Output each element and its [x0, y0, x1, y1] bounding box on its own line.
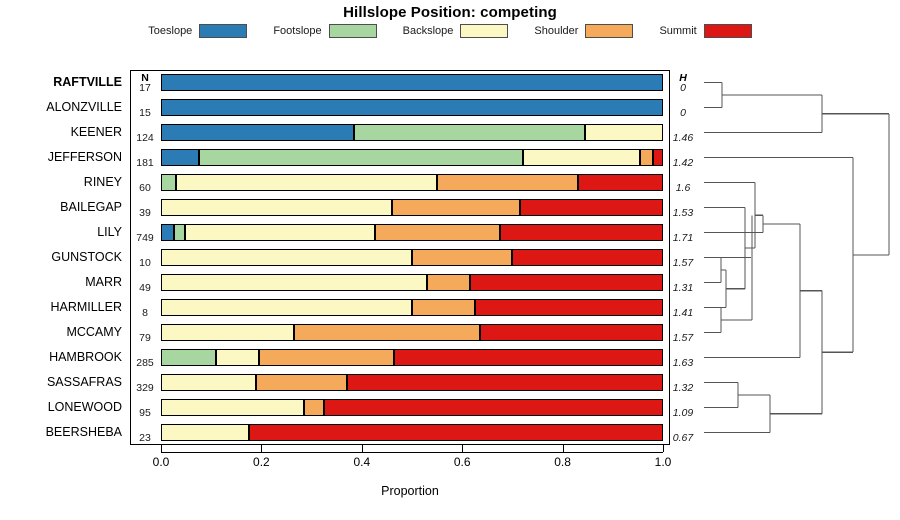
- bar-segment-shoulder[interactable]: [412, 299, 475, 316]
- x-tick-label: 1.0: [641, 455, 685, 469]
- bar-segment-summit[interactable]: [324, 399, 663, 416]
- bar-row[interactable]: [161, 74, 663, 91]
- chart-title: Hillslope Position: competing: [0, 4, 900, 21]
- row-label-jefferson: JEFFERSON: [0, 150, 122, 164]
- bar-segment-backslope[interactable]: [161, 199, 392, 216]
- bar-segment-footslope[interactable]: [199, 149, 523, 166]
- legend-item-label: Summit: [659, 25, 696, 37]
- h-value: 1.53: [664, 207, 702, 219]
- bar-segment-shoulder[interactable]: [259, 349, 395, 366]
- bar-segment-toeslope[interactable]: [161, 99, 663, 116]
- n-value: 79: [131, 332, 159, 344]
- bar-segment-backslope[interactable]: [216, 349, 259, 366]
- bar-segment-summit[interactable]: [520, 199, 663, 216]
- bar-row[interactable]: [161, 224, 663, 241]
- bar-segment-shoulder[interactable]: [427, 274, 470, 291]
- h-value: 1.46: [664, 132, 702, 144]
- bar-segment-summit[interactable]: [347, 374, 663, 391]
- n-value: 329: [131, 382, 159, 394]
- x-tick: [663, 445, 664, 452]
- h-value: 0.67: [664, 432, 702, 444]
- bar-row[interactable]: [161, 124, 663, 141]
- n-value: 23: [131, 432, 159, 444]
- h-value: 1.57: [664, 332, 702, 344]
- n-value: 285: [131, 357, 159, 369]
- legend-item-toeslope[interactable]: Toeslope: [148, 24, 247, 38]
- bar-segment-footslope[interactable]: [174, 224, 185, 241]
- bar-segment-backslope[interactable]: [161, 324, 294, 341]
- bars-area: [161, 70, 663, 445]
- bar-row[interactable]: [161, 324, 663, 341]
- bar-row[interactable]: [161, 274, 663, 291]
- bar-segment-shoulder[interactable]: [437, 174, 578, 191]
- bar-row[interactable]: [161, 374, 663, 391]
- legend-swatch-icon: [199, 24, 247, 38]
- bar-row[interactable]: [161, 249, 663, 266]
- row-label-gunstock: GUNSTOCK: [0, 250, 122, 264]
- legend-item-label: Shoulder: [534, 25, 578, 37]
- bar-segment-footslope[interactable]: [354, 124, 585, 141]
- chart-root: Hillslope Position: competing ToeslopeFo…: [0, 0, 900, 520]
- legend-swatch-icon: [704, 24, 752, 38]
- bar-segment-backslope[interactable]: [176, 174, 437, 191]
- legend: ToeslopeFootslopeBackslopeShoulderSummit: [0, 24, 900, 38]
- row-label-riney: RINEY: [0, 175, 122, 189]
- legend-item-label: Toeslope: [148, 25, 192, 37]
- bar-segment-toeslope[interactable]: [161, 74, 663, 91]
- h-value: 1.6: [664, 182, 702, 194]
- row-label-mccamy: MCCAMY: [0, 325, 122, 339]
- legend-swatch-icon: [329, 24, 377, 38]
- row-label-lonewood: LONEWOOD: [0, 400, 122, 414]
- bar-segment-summit[interactable]: [653, 149, 663, 166]
- bar-segment-toeslope[interactable]: [161, 224, 174, 241]
- x-axis-label: Proportion: [0, 484, 820, 498]
- bar-segment-backslope[interactable]: [161, 299, 412, 316]
- bar-row[interactable]: [161, 174, 663, 191]
- bar-row[interactable]: [161, 199, 663, 216]
- x-tick-label: 0.8: [541, 455, 585, 469]
- n-column: N 1715124181603974910498792853299523: [131, 70, 161, 445]
- bar-row[interactable]: [161, 299, 663, 316]
- h-column: H 001.461.421.61.531.711.571.311.411.571…: [664, 70, 704, 445]
- x-tick-label: 0.0: [139, 455, 183, 469]
- bar-segment-footslope[interactable]: [161, 349, 216, 366]
- x-axis-line: [161, 452, 663, 453]
- row-label-marr: MARR: [0, 275, 122, 289]
- row-label-beersheba: BEERSHEBA: [0, 425, 122, 439]
- row-label-column: RAFTVILLEALONZVILLEKEENERJEFFERSONRINEYB…: [0, 70, 126, 445]
- legend-swatch-icon: [460, 24, 508, 38]
- n-value: 60: [131, 182, 159, 194]
- bar-segment-shoulder[interactable]: [392, 199, 520, 216]
- legend-item-summit[interactable]: Summit: [659, 24, 751, 38]
- n-value: 181: [131, 157, 159, 169]
- bar-segment-summit[interactable]: [512, 249, 663, 266]
- bar-row[interactable]: [161, 349, 663, 366]
- bar-segment-footslope[interactable]: [161, 174, 176, 191]
- x-tick: [462, 445, 463, 452]
- n-value: 749: [131, 232, 159, 244]
- bar-segment-backslope[interactable]: [523, 149, 640, 166]
- h-value: 0: [664, 82, 702, 94]
- bar-segment-backslope[interactable]: [585, 124, 663, 141]
- n-value: 49: [131, 282, 159, 294]
- legend-swatch-icon: [585, 24, 633, 38]
- bar-segment-backslope[interactable]: [161, 249, 412, 266]
- dendrogram-tree: [700, 60, 900, 460]
- bar-segment-shoulder[interactable]: [256, 374, 346, 391]
- legend-item-footslope[interactable]: Footslope: [273, 24, 376, 38]
- bar-segment-toeslope[interactable]: [161, 124, 354, 141]
- row-label-alonzville: ALONZVILLE: [0, 100, 122, 114]
- bar-row[interactable]: [161, 424, 663, 441]
- x-tick-label: 0.4: [340, 455, 384, 469]
- x-tick: [563, 445, 564, 452]
- row-label-sassafras: SASSAFRAS: [0, 375, 122, 389]
- bar-segment-summit[interactable]: [475, 299, 663, 316]
- row-label-harmiller: HARMILLER: [0, 300, 122, 314]
- h-value: 1.42: [664, 157, 702, 169]
- bar-segment-summit[interactable]: [394, 349, 663, 366]
- n-value: 124: [131, 132, 159, 144]
- row-label-lily: LILY: [0, 225, 122, 239]
- x-tick: [362, 445, 363, 452]
- bar-segment-summit[interactable]: [578, 174, 663, 191]
- bar-segment-shoulder[interactable]: [375, 224, 499, 241]
- x-tick-label: 0.2: [239, 455, 283, 469]
- dendrogram: [700, 60, 900, 460]
- row-label-hambrook: HAMBROOK: [0, 350, 122, 364]
- bar-row[interactable]: [161, 99, 663, 116]
- n-value: 8: [131, 307, 159, 319]
- n-value: 39: [131, 207, 159, 219]
- bar-segment-backslope[interactable]: [161, 374, 256, 391]
- bar-segment-backslope[interactable]: [161, 274, 427, 291]
- bar-segment-summit[interactable]: [249, 424, 663, 441]
- h-value: 1.57: [664, 257, 702, 269]
- h-value: 1.41: [664, 307, 702, 319]
- bar-segment-shoulder[interactable]: [294, 324, 480, 341]
- n-value: 15: [131, 107, 159, 119]
- bar-segment-summit[interactable]: [500, 224, 663, 241]
- h-value: 1.09: [664, 407, 702, 419]
- h-value: 0: [664, 107, 702, 119]
- bar-segment-backslope[interactable]: [161, 424, 249, 441]
- row-label-bailegap: BAILEGAP: [0, 200, 122, 214]
- bar-segment-summit[interactable]: [480, 324, 663, 341]
- bar-row[interactable]: [161, 399, 663, 416]
- n-value: 10: [131, 257, 159, 269]
- h-value: 1.71: [664, 232, 702, 244]
- row-label-raftville: RAFTVILLE: [0, 75, 122, 89]
- legend-item-label: Footslope: [273, 25, 321, 37]
- bar-row[interactable]: [161, 149, 663, 166]
- bar-segment-toeslope[interactable]: [161, 149, 199, 166]
- legend-item-backslope[interactable]: Backslope: [403, 24, 509, 38]
- bar-segment-shoulder[interactable]: [412, 249, 512, 266]
- bar-segment-summit[interactable]: [470, 274, 663, 291]
- legend-item-shoulder[interactable]: Shoulder: [534, 24, 633, 38]
- n-value: 17: [131, 82, 159, 94]
- bar-segment-shoulder[interactable]: [640, 149, 653, 166]
- x-tick: [161, 445, 162, 452]
- legend-item-label: Backslope: [403, 25, 454, 37]
- n-value: 95: [131, 407, 159, 419]
- x-tick-label: 0.6: [440, 455, 484, 469]
- x-tick: [261, 445, 262, 452]
- h-value: 1.32: [664, 382, 702, 394]
- row-label-keener: KEENER: [0, 125, 122, 139]
- bar-segment-shoulder[interactable]: [304, 399, 324, 416]
- bar-segment-backslope[interactable]: [161, 399, 304, 416]
- h-value: 1.63: [664, 357, 702, 369]
- bar-segment-backslope[interactable]: [185, 224, 376, 241]
- h-value: 1.31: [664, 282, 702, 294]
